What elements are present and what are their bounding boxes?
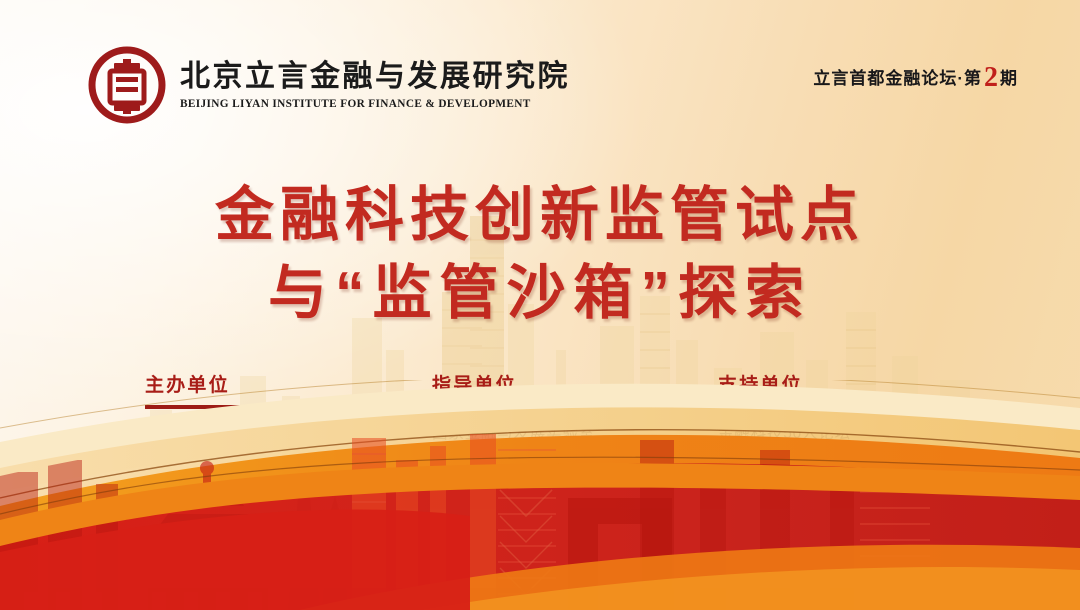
unit-entry: 国家金融与发展实验室 bbox=[432, 421, 647, 446]
title-line-1: 金融科技创新监管试点 bbox=[0, 176, 1080, 254]
forum-banner: 北京立言金融与发展研究院 BEIJING LIYAN INSTITUTE FOR… bbox=[0, 0, 1080, 610]
unit-block-support: 支持单位 金融科技50人论坛 bbox=[718, 376, 913, 446]
issue-number: 2 bbox=[982, 64, 1000, 92]
issue-suffix: 期 bbox=[1000, 64, 1018, 89]
unit-underline bbox=[145, 404, 350, 412]
banner-header: 北京立言金融与发展研究院 BEIJING LIYAN INSTITUTE FOR… bbox=[88, 44, 1046, 134]
units-section: 主办单位 北京立言金融与发展研究院 指导单位 国家金融与发展实验室 北京市地方金… bbox=[0, 376, 1080, 496]
institute-brand: 北京立言金融与发展研究院 BEIJING LIYAN INSTITUTE FOR… bbox=[88, 46, 570, 124]
unit-block-guidance: 指导单位 国家金融与发展实验室 北京市地方金融监督管理局 bbox=[432, 376, 647, 471]
unit-heading: 指导单位 bbox=[432, 376, 647, 397]
unit-heading: 支持单位 bbox=[718, 376, 913, 397]
title-line-2: 与“监管沙箱”探索 bbox=[0, 254, 1080, 332]
unit-underline bbox=[718, 404, 913, 412]
page-title: 金融科技创新监管试点 与“监管沙箱”探索 bbox=[0, 176, 1080, 333]
unit-heading: 主办单位 bbox=[145, 376, 350, 397]
issue-label: 立言首都金融论坛·第 2 期 bbox=[813, 62, 1018, 90]
unit-underline bbox=[432, 404, 647, 412]
underline-thick bbox=[145, 405, 258, 409]
unit-block-organizer: 主办单位 北京立言金融与发展研究院 bbox=[145, 376, 350, 446]
unit-entries: 北京立言金融与发展研究院 bbox=[145, 421, 350, 446]
unit-entries: 国家金融与发展实验室 北京市地方金融监督管理局 bbox=[432, 421, 647, 471]
unit-entries: 金融科技50人论坛 bbox=[718, 421, 913, 446]
unit-entry: 金融科技50人论坛 bbox=[718, 421, 913, 446]
unit-entry: 北京立言金融与发展研究院 bbox=[145, 421, 350, 446]
institute-name-en: BEIJING LIYAN INSTITUTE FOR FINANCE & DE… bbox=[180, 98, 570, 110]
unit-entry: 北京市地方金融监督管理局 bbox=[432, 446, 647, 471]
institute-name-cn: 北京立言金融与发展研究院 bbox=[180, 60, 570, 94]
issue-prefix: 立言首都金融论坛·第 bbox=[813, 64, 982, 89]
underline-thick bbox=[718, 405, 825, 409]
underline-thick bbox=[432, 405, 550, 409]
seal-logo-icon bbox=[88, 46, 166, 124]
